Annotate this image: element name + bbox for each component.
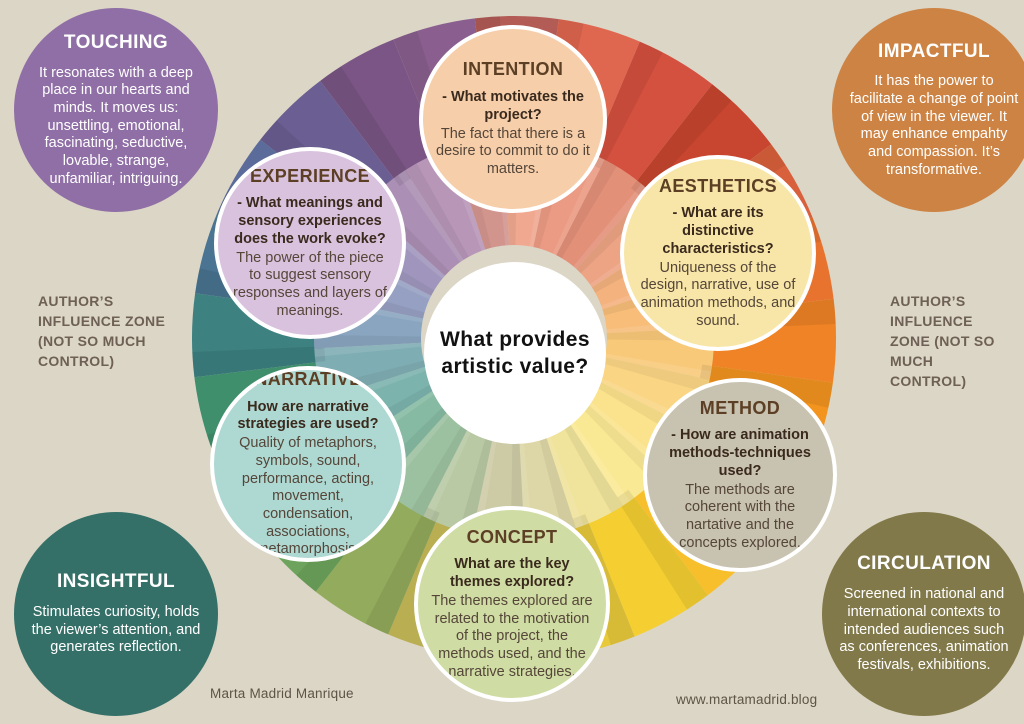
topic-question-aesthetics: - What are its distinctive characteristi…: [636, 205, 800, 258]
topic-question-experience: - What meanings and sensory experiences …: [230, 195, 390, 248]
author-influence-zone-right: AUTHOR’S INFLUENCE ZONE (NOT SO MUCH CON…: [890, 292, 1010, 391]
corner-body-impactful: It has the power to facilitate a change …: [848, 73, 1020, 179]
topic-title-method: METHOD: [700, 398, 780, 419]
corner-body-touching: It resonates with a deep place in our he…: [30, 65, 202, 189]
corner-circle-touching[interactable]: TOUCHING It resonates with a deep place …: [14, 8, 218, 212]
topic-title-aesthetics: AESTHETICS: [659, 176, 777, 197]
corner-title-impactful: IMPACTFUL: [878, 41, 990, 63]
corner-body-insightful: Stimulates curiosity, holds the viewer’s…: [30, 604, 202, 657]
topic-question-method: - How are animation methods-techniques u…: [659, 427, 821, 480]
topic-circle-narrative[interactable]: NARRATIVE How are narrative strategies a…: [210, 366, 406, 562]
topic-body-experience: The power of the piece to suggest sensor…: [230, 250, 390, 321]
topic-body-method: The methods are coherent with the nartat…: [659, 482, 821, 553]
credit-website: www.martamadrid.blog: [676, 692, 817, 707]
topic-circle-method[interactable]: METHOD - How are animation methods-techn…: [643, 378, 837, 572]
topic-body-aesthetics: Uniqueness of the design, narrative, use…: [636, 260, 800, 331]
infographic-canvas: What provides artistic value? INTENTION …: [0, 0, 1024, 724]
topic-circle-intention[interactable]: INTENTION - What motivates the project? …: [419, 25, 607, 213]
topic-body-intention: The fact that there is a desire to commi…: [435, 126, 591, 179]
topic-title-intention: INTENTION: [463, 59, 564, 80]
corner-title-insightful: INSIGHTFUL: [57, 571, 175, 593]
topic-question-intention: - What motivates the project?: [435, 89, 591, 124]
topic-circle-experience[interactable]: EXPERIENCE - What meanings and sensory e…: [214, 147, 406, 339]
corner-circle-circulation[interactable]: CIRCULATION Screened in national and int…: [822, 512, 1024, 716]
topic-question-narrative: How are narrative strategies are used?: [226, 399, 390, 434]
corner-title-touching: TOUCHING: [64, 32, 168, 54]
center-question-circle: What provides artistic value?: [424, 262, 606, 444]
credit-author: Marta Madrid Manrique: [210, 686, 354, 701]
topic-circle-concept[interactable]: CONCEPT What are the key themes explored…: [414, 506, 610, 702]
corner-circle-impactful[interactable]: IMPACTFUL It has the power to facilitate…: [832, 8, 1024, 212]
author-influence-zone-left: AUTHOR’S INFLUENCE ZONE (NOT SO MUCH CON…: [38, 292, 168, 372]
center-question-text: What provides artistic value?: [427, 326, 603, 381]
topic-circle-aesthetics[interactable]: AESTHETICS - What are its distinctive ch…: [620, 155, 816, 351]
topic-question-concept: What are the key themes explored?: [430, 556, 594, 591]
corner-circle-insightful[interactable]: INSIGHTFUL Stimulates curiosity, holds t…: [14, 512, 218, 716]
topic-body-narrative: Quality of metaphors, symbols, sound, pe…: [226, 435, 390, 559]
corner-title-circulation: CIRCULATION: [857, 553, 991, 575]
topic-title-experience: EXPERIENCE: [250, 166, 370, 187]
topic-title-concept: CONCEPT: [467, 527, 558, 548]
topic-body-concept: The themes explored are related to the m…: [430, 593, 594, 681]
corner-body-circulation: Screened in national and international c…: [838, 586, 1010, 674]
